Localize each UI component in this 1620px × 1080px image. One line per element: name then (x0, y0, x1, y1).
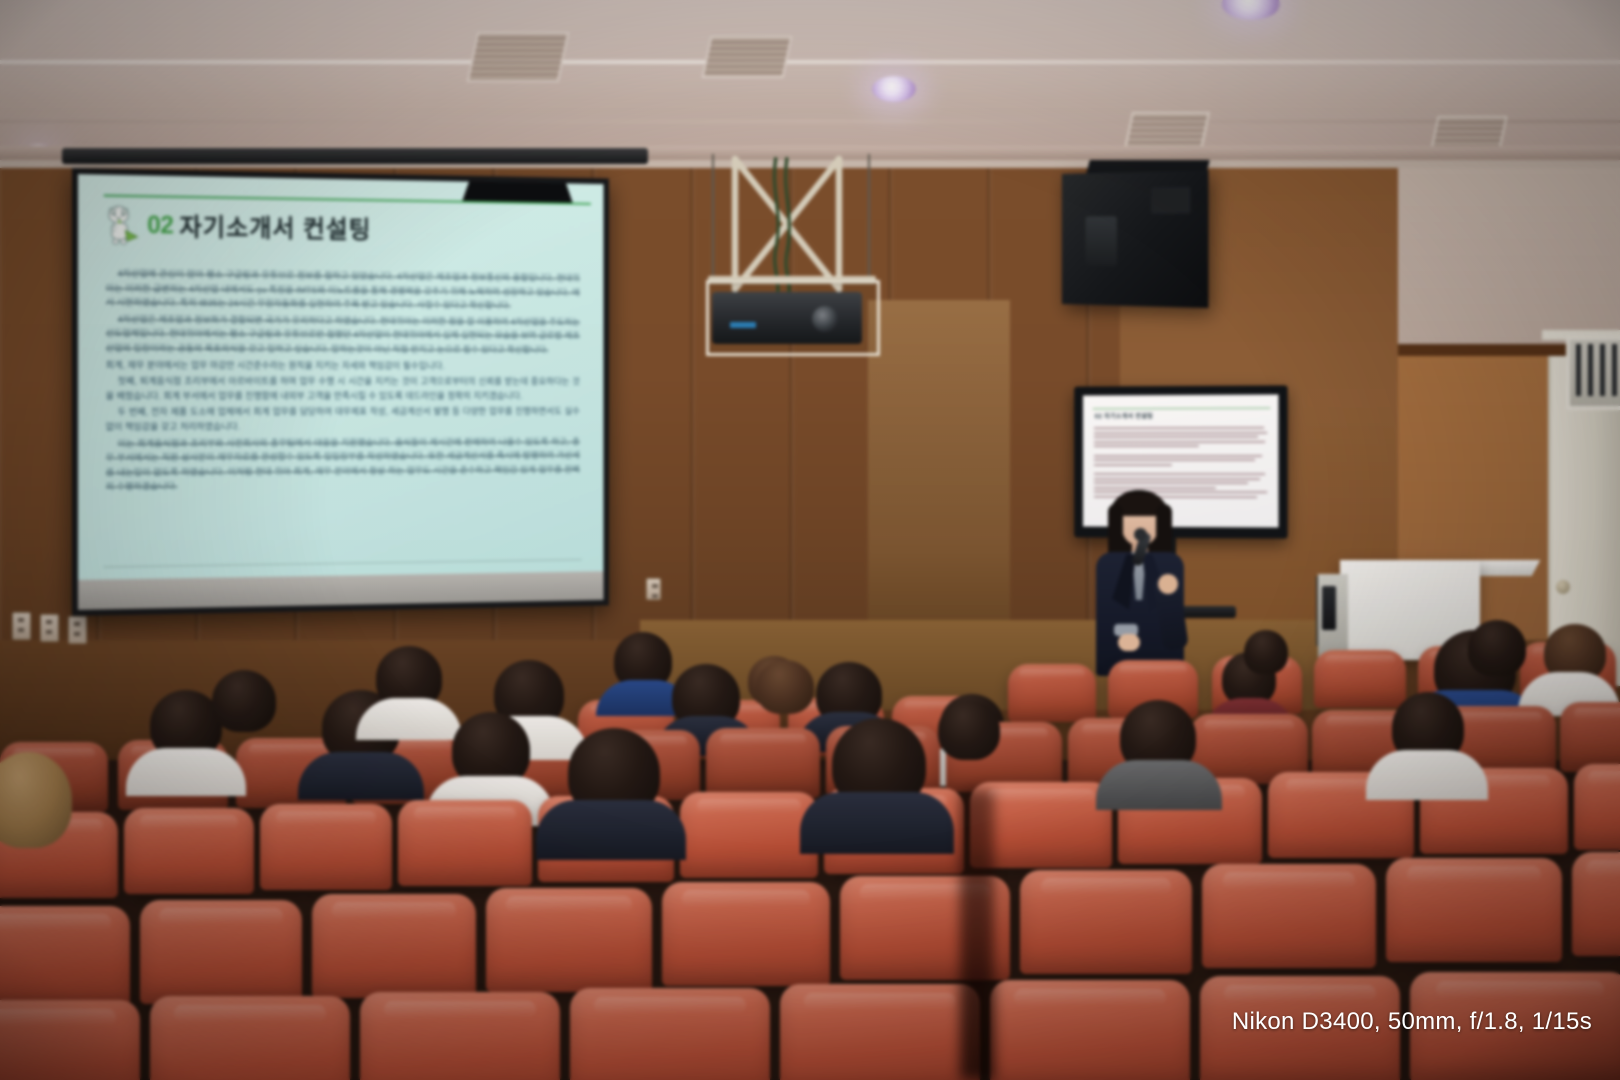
screen-roller-housing (62, 148, 648, 164)
seat (140, 900, 302, 1004)
slide-paragraph-strike: 4차산업에 관심이 많아 평소 구글링과 유튜브로 정보를 접하고 있었습니다.… (106, 268, 580, 310)
ceiling-vent-icon (1124, 112, 1210, 150)
audience-head (756, 660, 814, 714)
seat (680, 792, 818, 878)
seat (1574, 764, 1620, 850)
slide-footer-rule (104, 559, 582, 567)
audience-head (212, 670, 276, 732)
seat (0, 906, 130, 1010)
projection-screen: 02 자기소개서 컨설팅 4차산업에 관심이 많아 평소 구글링과 유튜브로 정… (72, 168, 609, 616)
downlight-icon (872, 76, 916, 102)
upper-wall-right (1398, 168, 1620, 348)
slide-title: 자기소개서 컨설팅 (179, 208, 371, 246)
stage-side-wall (868, 300, 1010, 660)
seat (1202, 864, 1376, 968)
seat (1008, 664, 1096, 722)
monitor-slide-rule (1093, 408, 1271, 410)
ceiling (0, 0, 1620, 168)
slide-paragraph-strike: 이는 회계음식점과 조리부와 사전회사의 총무팀에서 대응을 지원했습니다. 음… (106, 436, 580, 492)
audience-shoulders (126, 748, 246, 796)
slide-paragraph: 회계, 재무 분야에서는 업무 마감만 시간준수라는 원칙을 지키는 자세와 책… (106, 358, 580, 373)
projector (712, 292, 862, 344)
ceiling-vent-icon (467, 32, 570, 82)
seat (360, 992, 560, 1080)
ceiling-projector-assembly (700, 150, 880, 360)
seat (1386, 858, 1562, 962)
audience-shoulders (1096, 760, 1222, 810)
seat (398, 800, 532, 886)
power-outlet-icon (12, 612, 31, 640)
ceiling-seam (0, 60, 1620, 64)
hanging-wire (712, 154, 714, 284)
seat (662, 882, 830, 986)
slide-title-row: 02 자기소개서 컨설팅 (104, 203, 372, 250)
projector-indicator-icon (730, 322, 756, 328)
slide-paragraph: 두 번째, 전자 제품 도소매 업체에서 회계 업무를 담당하여 대무제표 작성… (106, 405, 580, 435)
presenter (1084, 486, 1194, 676)
projector-lens-icon (812, 306, 838, 332)
projected-slide: 02 자기소개서 컨설팅 4차산업에 관심이 많아 평소 구글링과 유튜브로 정… (78, 174, 604, 582)
ceiling-seam-secondary (0, 120, 1620, 123)
audience-shoulders (298, 752, 424, 800)
door-knob-icon[interactable] (1556, 580, 1570, 594)
seat (990, 980, 1190, 1080)
microphone-head-icon (1134, 528, 1147, 541)
presenter-hand-left (1118, 634, 1140, 651)
slide-shadow-notch (462, 181, 572, 202)
slide-body-text: 4차산업에 관심이 많아 평소 구글링과 유튜브로 정보를 접하고 있었습니다.… (106, 266, 580, 551)
seat (312, 894, 476, 998)
seat (780, 984, 980, 1080)
speaker-driver-icon (1085, 216, 1117, 266)
seat (124, 808, 254, 894)
lectern-computer-icon (1322, 586, 1336, 630)
seat (0, 1000, 140, 1080)
audience-shoulders (1366, 750, 1488, 800)
downlight-icon (1222, 0, 1280, 20)
seat (1560, 702, 1620, 772)
photograph-scene: 02 자기소개서 컨설팅 4차산업에 관심이 많아 평소 구글링과 유튜브로 정… (0, 0, 1620, 1080)
slide-number: 02 (147, 211, 173, 240)
seat (570, 988, 770, 1080)
seat (486, 888, 652, 992)
slide-paragraph-strike: 4차산업은 제조업과 정보화가 결합되면 국가가 유리하다고 하였습니다. 현대… (106, 314, 580, 355)
power-outlet-icon (646, 578, 661, 600)
monitor-slide-title: 02 자기소개서 컨설팅 (1095, 411, 1153, 420)
seat (1572, 852, 1620, 956)
white-tiger-mascot-icon (104, 203, 141, 247)
speaker-horn-icon (1151, 187, 1190, 214)
audience-shoulders (536, 800, 686, 860)
hanging-wire (868, 154, 870, 284)
audience-head (1244, 630, 1288, 674)
presenter-hand-right (1158, 574, 1178, 594)
audience-head (938, 700, 1000, 760)
seat (150, 996, 350, 1080)
lectern-cable (1316, 576, 1318, 646)
power-outlet-icon (68, 616, 87, 644)
power-outlet-icon (40, 614, 59, 642)
audience-shoulders (800, 792, 954, 854)
camera-exif-caption: Nikon D3400, 50mm, f/1.8, 1/15s (1232, 1008, 1592, 1036)
wall-speaker (1062, 170, 1209, 308)
slide-paragraph: 첫째, 퇴계음식점 조리부에서 아르바이트를 하며 업무 수행 시 시간을 지키… (106, 374, 580, 403)
ceiling-vent-icon (702, 36, 793, 78)
aisle-gap (960, 790, 994, 1080)
seat (260, 804, 392, 890)
seat (1020, 870, 1192, 974)
audience-head (1468, 620, 1526, 676)
ceiling-vent-icon (1430, 116, 1507, 150)
seat (706, 728, 820, 798)
door-window (1566, 336, 1620, 410)
seat (1314, 650, 1406, 708)
